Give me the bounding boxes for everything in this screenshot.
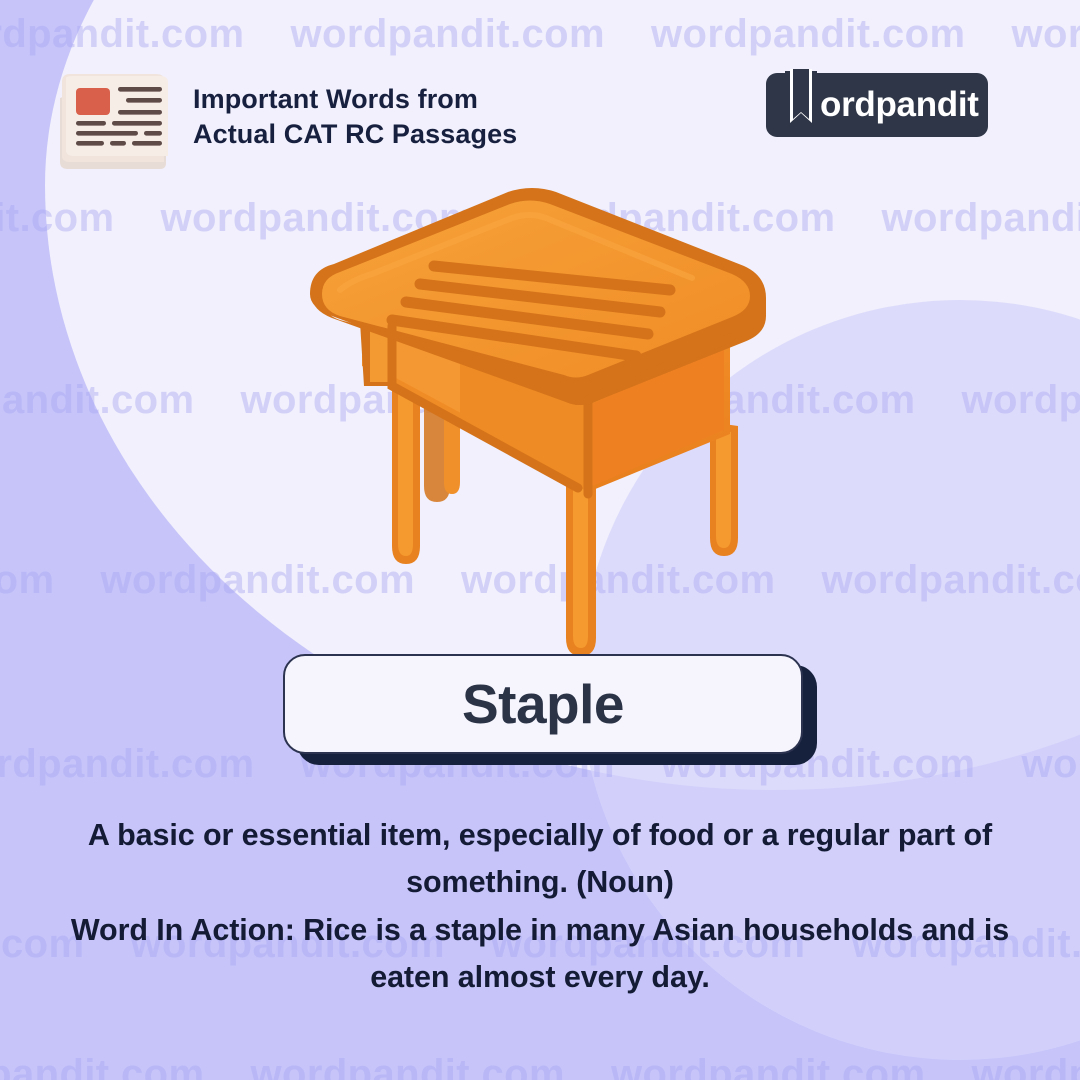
example-sentence: Word In Action: Rice is a staple in many… xyxy=(50,907,1030,1002)
definition-text: A basic or essential item, especially of… xyxy=(50,812,1030,907)
orange-stool-illustration xyxy=(292,186,792,656)
brand-name: ordpandit xyxy=(820,85,979,125)
watermark-text: wordpandit.com xyxy=(882,196,1080,240)
page-title: Important Words from Actual CAT RC Passa… xyxy=(193,82,517,151)
watermark-text: wordpandit.com xyxy=(291,12,606,56)
page-title-line1: Important Words from xyxy=(193,82,517,117)
word-card[interactable]: Staple xyxy=(283,654,803,754)
page-title-line2: Actual CAT RC Passages xyxy=(193,117,517,152)
word-card-container: Staple xyxy=(283,654,803,754)
vocabulary-word: Staple xyxy=(462,672,624,736)
bookmark-icon xyxy=(782,69,820,133)
watermark-text: wordpandit.com xyxy=(0,558,55,602)
watermark-text: wordpandit.com xyxy=(0,1052,205,1080)
watermark-text: wordpandit.com xyxy=(651,12,966,56)
watermark-text: wordpandit.com xyxy=(251,1052,566,1080)
header: Important Words from Actual CAT RC Passa… xyxy=(0,60,1080,180)
brand-logo[interactable]: ordpandit xyxy=(766,73,988,137)
newspaper-icon xyxy=(52,70,178,174)
poster-canvas: wordpandit.comwordpandit.comwordpandit.c… xyxy=(0,0,1080,1080)
watermark-row: wordpandit.comwordpandit.comwordpandit.c… xyxy=(0,12,1080,57)
watermark-text: wordpandit.com xyxy=(0,196,115,240)
watermark-text: wordpandit.com xyxy=(611,1052,926,1080)
watermark-text: wordpandit.com xyxy=(0,378,195,422)
definition-block: A basic or essential item, especially of… xyxy=(50,812,1030,1001)
watermark-text: wordpandit.com xyxy=(1012,12,1080,56)
watermark-text: wordpandit.com xyxy=(0,12,245,56)
watermark-text: wordpandit.com xyxy=(0,742,255,786)
